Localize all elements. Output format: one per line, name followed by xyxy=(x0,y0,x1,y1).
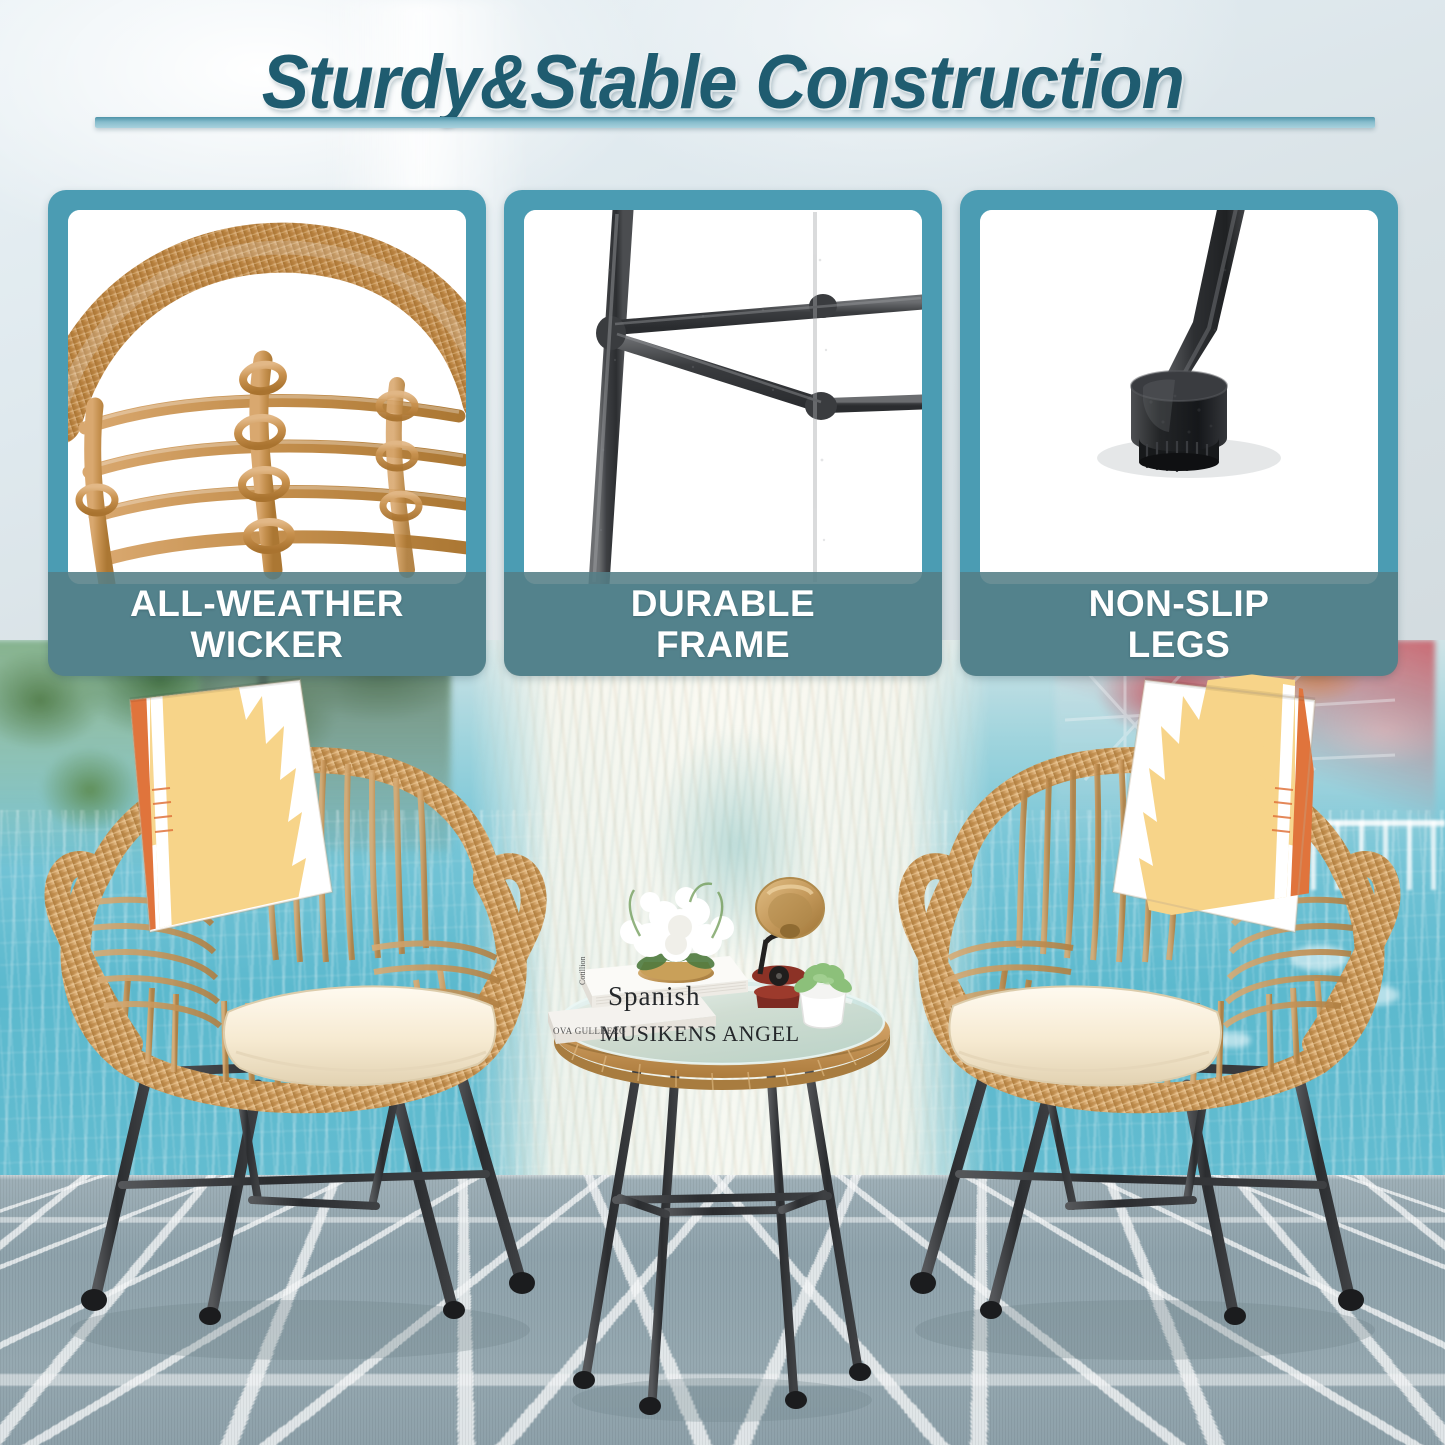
chair-right-seat-cushion xyxy=(949,986,1221,1085)
chair-left[interactable] xyxy=(58,674,535,1360)
book-title-spanish: Spanish xyxy=(608,981,701,1012)
chair-left-seat-cushion xyxy=(224,986,496,1085)
caption-line-1: DURABLE xyxy=(631,583,815,624)
book-spine-text-spanish: Cotillion xyxy=(578,957,587,985)
steel-frame-illustration xyxy=(524,210,922,584)
feature-panel-non-slip-legs[interactable]: NON-SLIPLEGS xyxy=(960,190,1398,676)
rattan-weave-illustration xyxy=(68,210,466,584)
feature-panel-durable-frame[interactable]: DURABLEFRAME xyxy=(504,190,942,676)
chair-right[interactable] xyxy=(910,674,1387,1360)
non-slip-foot-illustration xyxy=(980,210,1378,584)
title-underline-rule xyxy=(95,117,1375,128)
book-title-musikens-angel: MUSIKENS ANGEL xyxy=(600,1021,800,1047)
feature-panel-all-weather-wicker[interactable]: ALL-WEATHERWICKER xyxy=(48,190,486,676)
chair-left-throw-pillow xyxy=(128,674,332,940)
feature-panels: ALL-WEATHERWICKER xyxy=(48,190,1398,676)
caption-line-1: ALL-WEATHER xyxy=(130,583,404,624)
panel-photo-frame xyxy=(524,210,922,584)
table-legs xyxy=(586,1052,858,1402)
caption-line-1: NON-SLIP xyxy=(1089,583,1270,624)
product-infographic: Sturdy&Stable Construction xyxy=(0,0,1445,1445)
page-title: Sturdy&Stable Construction xyxy=(261,42,1183,124)
tabletop-decor xyxy=(548,878,855,1044)
chair-right-throw-pillow xyxy=(1113,674,1317,940)
panel-photo-wicker xyxy=(68,210,466,584)
panel-photo-legs xyxy=(980,210,1378,584)
book-author-musikens-angel: OVA GULLBERG xyxy=(553,1026,626,1036)
